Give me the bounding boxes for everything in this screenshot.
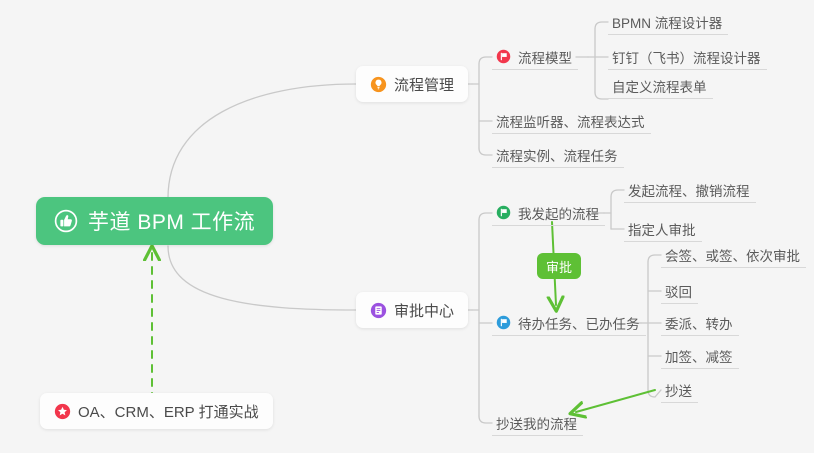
leaf-cc[interactable]: 抄送 (661, 377, 698, 403)
thumbs-up-icon (54, 209, 78, 233)
link-initiated-to-start (611, 190, 624, 197)
link-pm-to-model (479, 57, 492, 64)
leaf-assignee-approval[interactable]: 指定人审批 (624, 216, 702, 242)
document-circle-icon (370, 302, 387, 319)
topic-process-model[interactable]: 流程模型 (492, 44, 578, 70)
link-model-to-bpmn (595, 22, 608, 29)
topic-label: 待办任务、已办任务 (518, 313, 640, 333)
leaf-dingtalk-feishu-designer[interactable]: 钉钉（飞书）流程设计器 (608, 44, 767, 70)
topic-instance-task[interactable]: 流程实例、流程任务 (492, 142, 624, 168)
link-todo-to-cc (648, 390, 661, 397)
leaf-start-cancel[interactable]: 发起流程、撤销流程 (624, 177, 756, 203)
leaf-label: 会签、或签、依次审批 (665, 245, 800, 265)
root-node[interactable]: 芋道 BPM 工作流 (36, 197, 273, 245)
leaf-countersign[interactable]: 会签、或签、依次审批 (661, 242, 806, 268)
link-ac-to-initiated (479, 213, 492, 220)
root-label: 芋道 BPM 工作流 (88, 206, 255, 236)
leaf-label: 驳回 (665, 281, 692, 301)
topic-cc-to-me[interactable]: 抄送我的流程 (492, 410, 583, 436)
leaf-label: 钉钉（飞书）流程设计器 (612, 47, 761, 67)
topic-label: 流程监听器、流程表达式 (496, 111, 645, 131)
topic-label: 流程模型 (518, 47, 572, 67)
leaf-label: 加签、减签 (665, 346, 733, 366)
leaf-label: 委派、转办 (665, 313, 733, 333)
topic-my-initiated[interactable]: 我发起的流程 (492, 200, 605, 226)
link-root-to-process-management (168, 84, 356, 198)
leaf-label: 自定义流程表单 (612, 76, 707, 96)
branch-node-process-management[interactable]: 流程管理 (356, 66, 468, 102)
leaf-custom-process-form[interactable]: 自定义流程表单 (608, 73, 713, 99)
leaf-reject[interactable]: 驳回 (661, 278, 698, 304)
floating-node-label: OA、CRM、ERP 打通实战 (78, 401, 259, 422)
mindmap-canvas: 芋道 BPM 工作流 OA、CRM、ERP 打通实战 流程管理 (0, 0, 814, 453)
link-root-to-approval-center (168, 246, 356, 310)
link-cc-to-ccme (576, 390, 655, 412)
branch-label: 流程管理 (394, 74, 454, 95)
annotation-tag-approval[interactable]: 审批 (537, 253, 581, 279)
link-pm-to-instance (479, 148, 492, 155)
branch-label: 审批中心 (394, 300, 454, 321)
topic-listener-expression[interactable]: 流程监听器、流程表达式 (492, 108, 651, 134)
link-ac-to-ccme (479, 416, 492, 423)
leaf-label: 指定人审批 (628, 219, 696, 239)
topic-label: 抄送我的流程 (496, 413, 577, 433)
leaf-delegate-transfer[interactable]: 委派、转办 (661, 310, 739, 336)
leaf-label: 抄送 (665, 380, 692, 400)
star-circle-icon (54, 403, 71, 420)
link-todo-to-countersign (648, 255, 661, 262)
leaf-label: 发起流程、撤销流程 (628, 180, 750, 200)
leaf-add-remove-sign[interactable]: 加签、减签 (661, 343, 739, 369)
lightbulb-circle-icon (370, 76, 387, 93)
leaf-bpmn-designer[interactable]: BPMN 流程设计器 (608, 9, 728, 35)
flag-green-icon (496, 205, 511, 220)
topic-label: 我发起的流程 (518, 203, 599, 223)
topic-label: 流程实例、流程任务 (496, 145, 618, 165)
branch-node-approval-center[interactable]: 审批中心 (356, 292, 468, 328)
topic-todo-done-tasks[interactable]: 待办任务、已办任务 (492, 310, 646, 336)
flag-blue-icon (496, 315, 511, 330)
leaf-label: BPMN 流程设计器 (612, 12, 722, 32)
flag-red-icon (496, 49, 511, 64)
floating-node-oa-crm-erp[interactable]: OA、CRM、ERP 打通实战 (40, 393, 273, 429)
annotation-label: 审批 (546, 257, 572, 276)
link-model-to-customform (595, 92, 608, 99)
